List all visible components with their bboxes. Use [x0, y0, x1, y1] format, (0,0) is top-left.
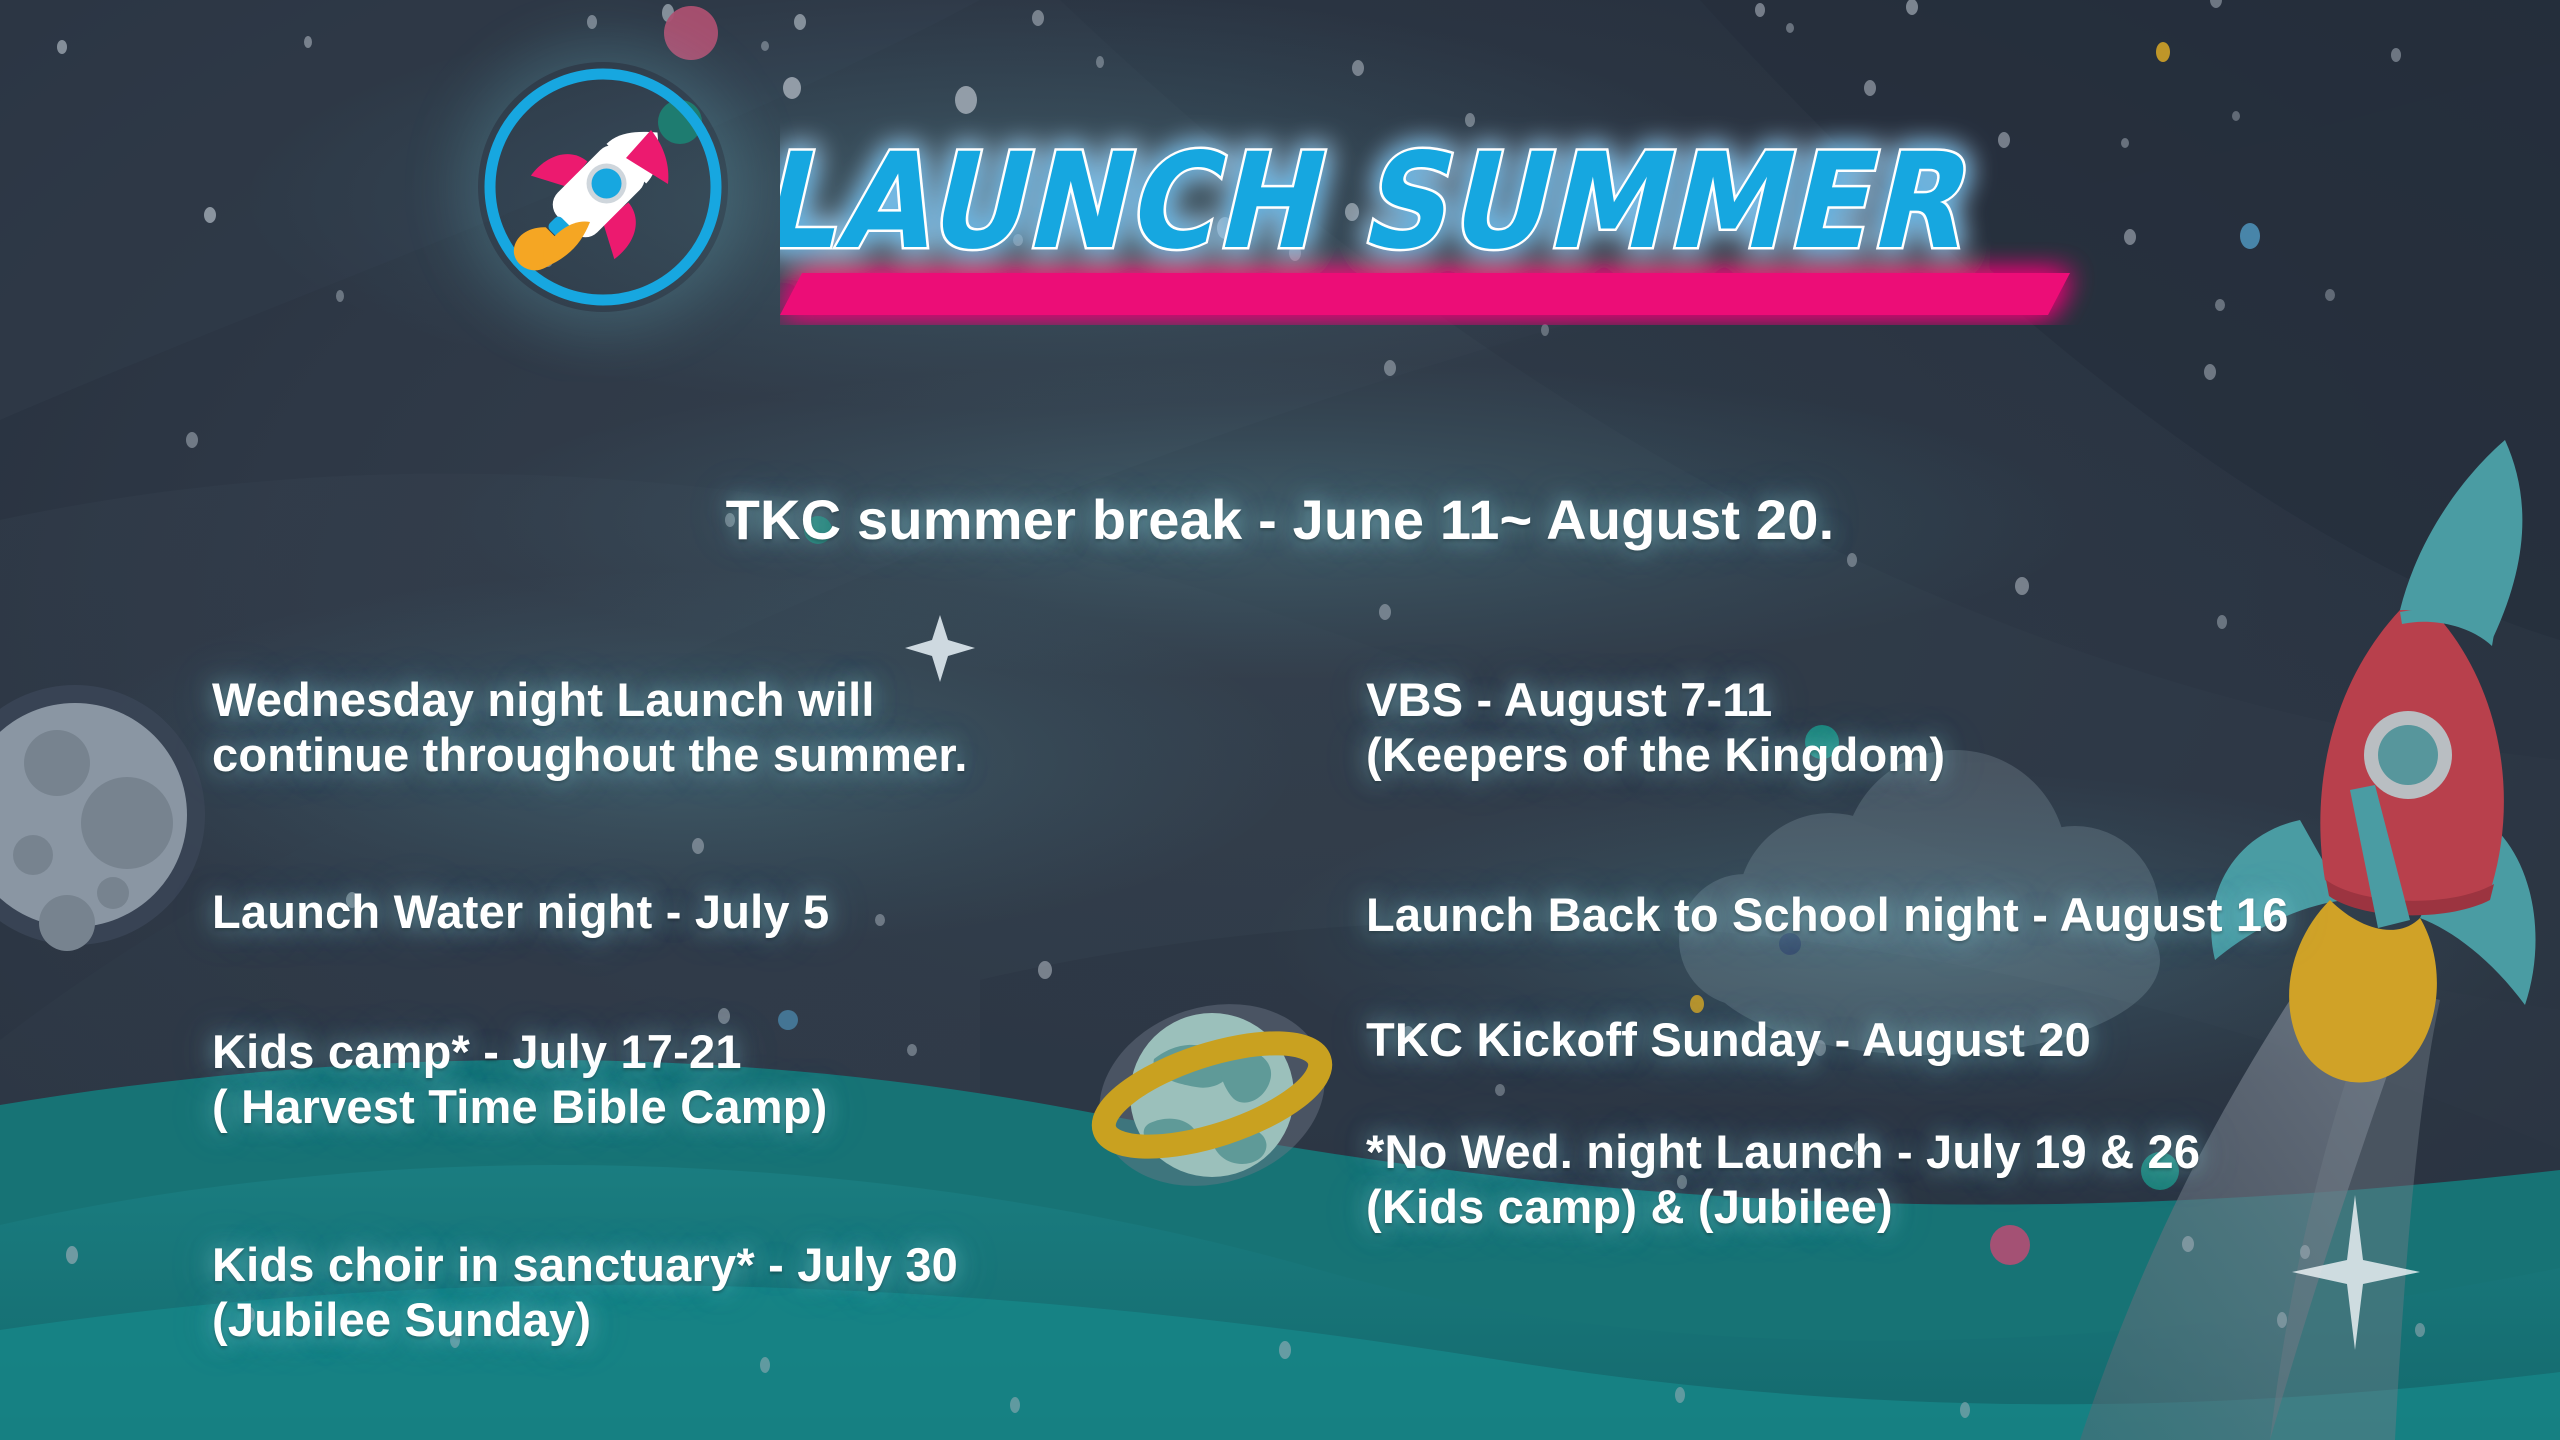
logo-glow: [478, 62, 728, 312]
launch-summer-poster: LAUNCH SUMMER TKC summer break - June 11…: [0, 0, 2560, 1440]
event-item: Wednesday night Launch will continue thr…: [212, 672, 968, 783]
event-item: *No Wed. night Launch - July 19 & 26 (Ki…: [1366, 1124, 2200, 1235]
accent-dot-gold: [1690, 995, 1704, 1013]
page-title: LAUNCH SUMMER: [780, 115, 2100, 325]
title-underline-bar: [780, 273, 2070, 315]
event-item: Launch Back to School night - August 16: [1366, 887, 2289, 942]
event-item: Launch Water night - July 5: [212, 884, 829, 939]
accent-dot-blue: [2240, 223, 2260, 249]
accent-dot-pink: [664, 6, 718, 60]
event-item: VBS - August 7-11 (Keepers of the Kingdo…: [1366, 672, 1945, 783]
event-item: Kids choir in sanctuary* - July 30 (Jubi…: [212, 1237, 958, 1348]
title-text: LAUNCH SUMMER: [780, 125, 1990, 279]
accent-dot-gold: [2156, 42, 2170, 62]
title-block: LAUNCH SUMMER: [780, 115, 2100, 325]
subtitle-text: TKC summer break - June 11~ August 20.: [0, 487, 2560, 553]
event-item: Kids camp* - July 17-21 ( Harvest Time B…: [212, 1024, 828, 1135]
launch-rocket-logo: [478, 62, 728, 312]
event-item: TKC Kickoff Sunday - August 20: [1366, 1012, 2091, 1067]
